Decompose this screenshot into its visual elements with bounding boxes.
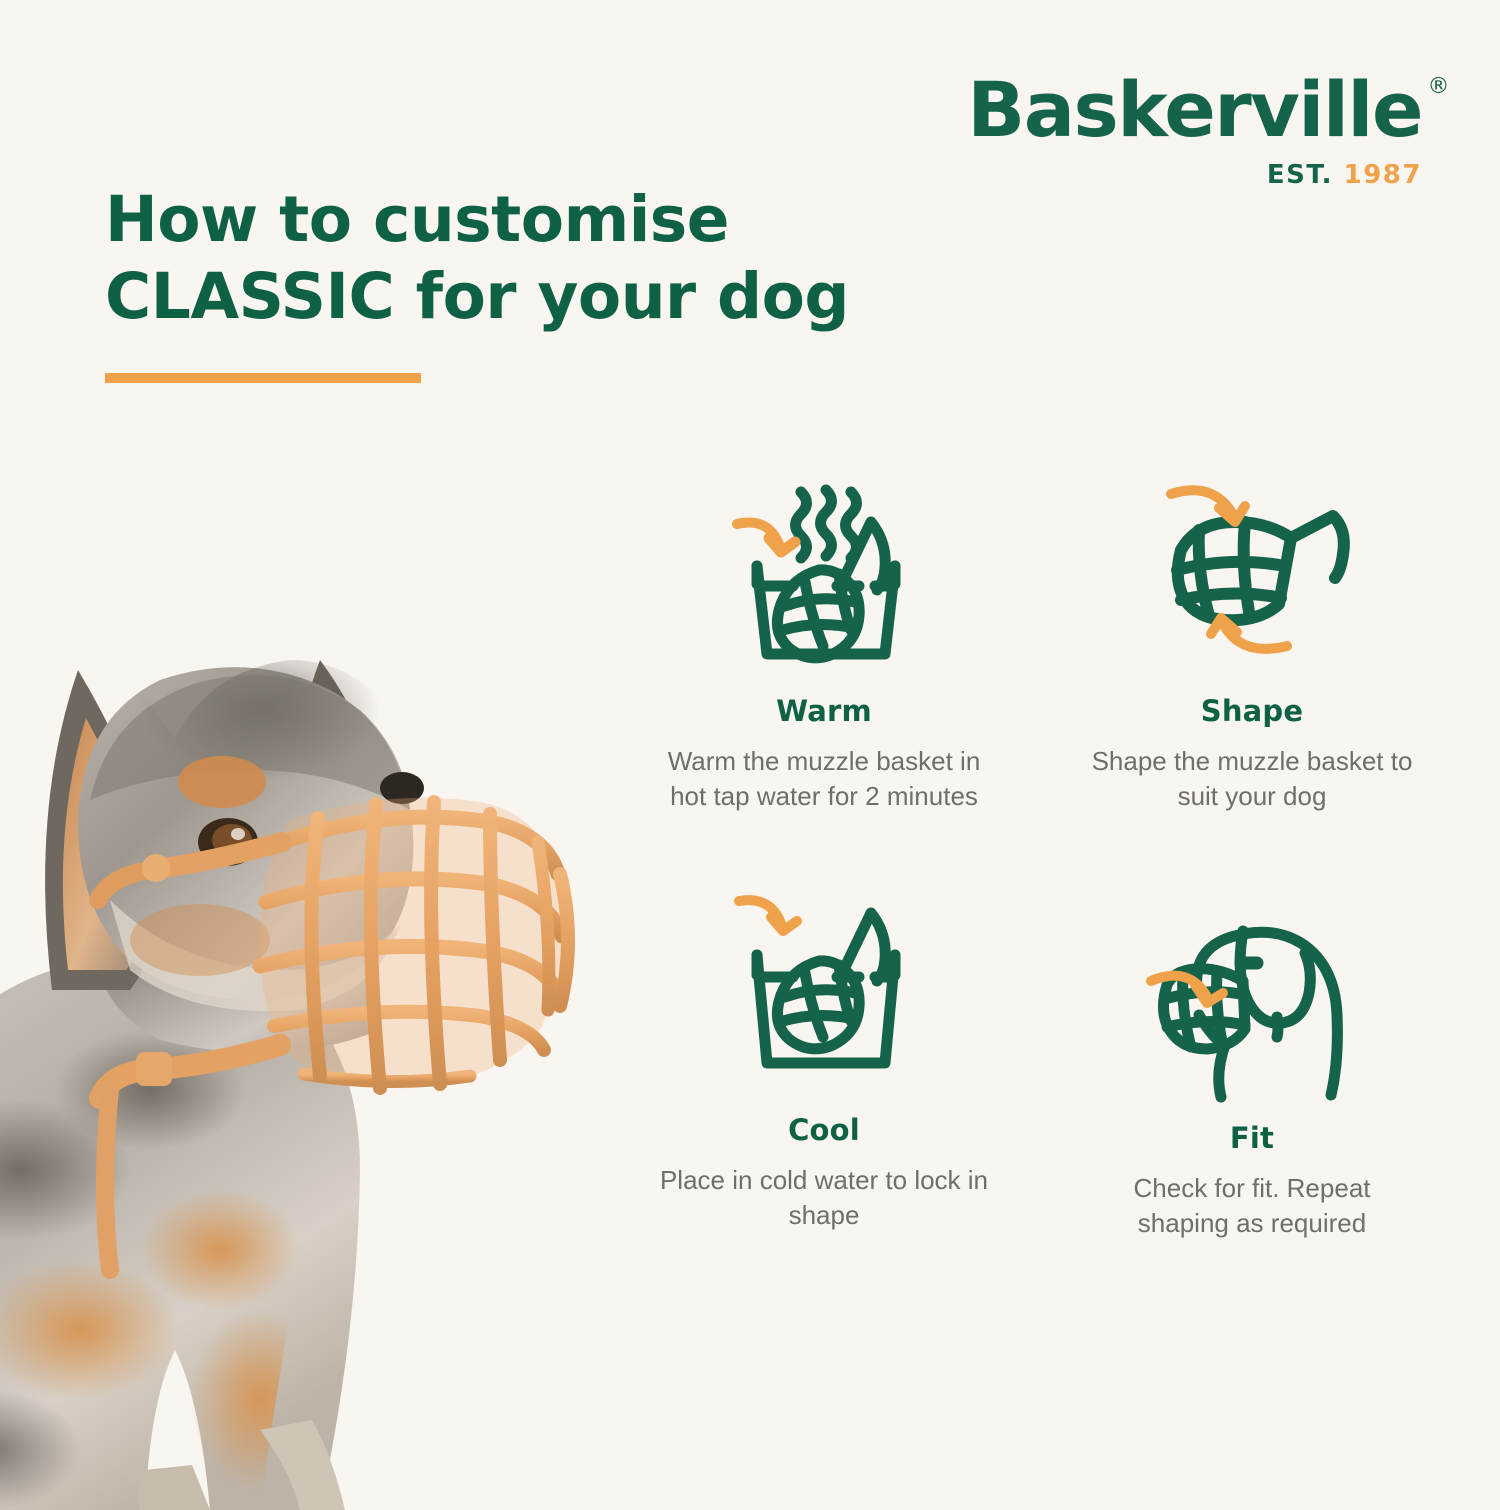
shape-muzzle-icon: [1137, 458, 1367, 658]
brand-wordmark: Baskerville ®: [967, 72, 1422, 148]
brand-name: Baskerville: [967, 65, 1422, 154]
cool-basin-icon: [709, 877, 939, 1107]
step-body: Check for fit. Repeat shaping as require…: [1087, 1171, 1417, 1242]
brand-logo: Baskerville ® EST. 1987: [967, 72, 1422, 188]
brand-est-label: EST.: [1267, 160, 1333, 190]
step-fit: Fit Check for fit. Repeat shaping as req…: [1056, 877, 1448, 1242]
brand-est-year: 1987: [1344, 160, 1422, 190]
step-body: Warm the muzzle basket in hot tap water …: [659, 744, 989, 815]
registered-trademark-icon: ®: [1428, 76, 1449, 98]
step-body: Place in cold water to lock in shape: [659, 1163, 989, 1234]
step-warm: Warm Warm the muzzle basket in hot tap w…: [628, 458, 1020, 815]
brand-established: EST. 1987: [967, 162, 1422, 188]
step-shape: Shape Shape the muzzle basket to suit yo…: [1056, 458, 1448, 815]
infographic-page: Baskerville ® EST. 1987 How to customise…: [0, 0, 1500, 1500]
step-cool: Cool Place in cold water to lock in shap…: [628, 877, 1020, 1242]
warm-basin-icon: [709, 458, 939, 688]
step-title: Fit: [1230, 1121, 1274, 1155]
step-title: Shape: [1201, 694, 1304, 728]
page-title-line-2: CLASSIC for your dog: [105, 259, 945, 336]
steps-grid: Warm Warm the muzzle basket in hot tap w…: [628, 458, 1448, 1241]
step-body: Shape the muzzle basket to suit your dog: [1087, 744, 1417, 815]
title-underline-rule: [105, 373, 421, 383]
step-title: Cool: [788, 1113, 860, 1147]
step-title: Warm: [776, 694, 872, 728]
page-title: How to customise CLASSIC for your dog: [105, 182, 945, 336]
dog-photo: [0, 470, 580, 1510]
page-title-line-1: How to customise: [105, 182, 945, 259]
fit-dog-head-icon: [1137, 877, 1367, 1107]
